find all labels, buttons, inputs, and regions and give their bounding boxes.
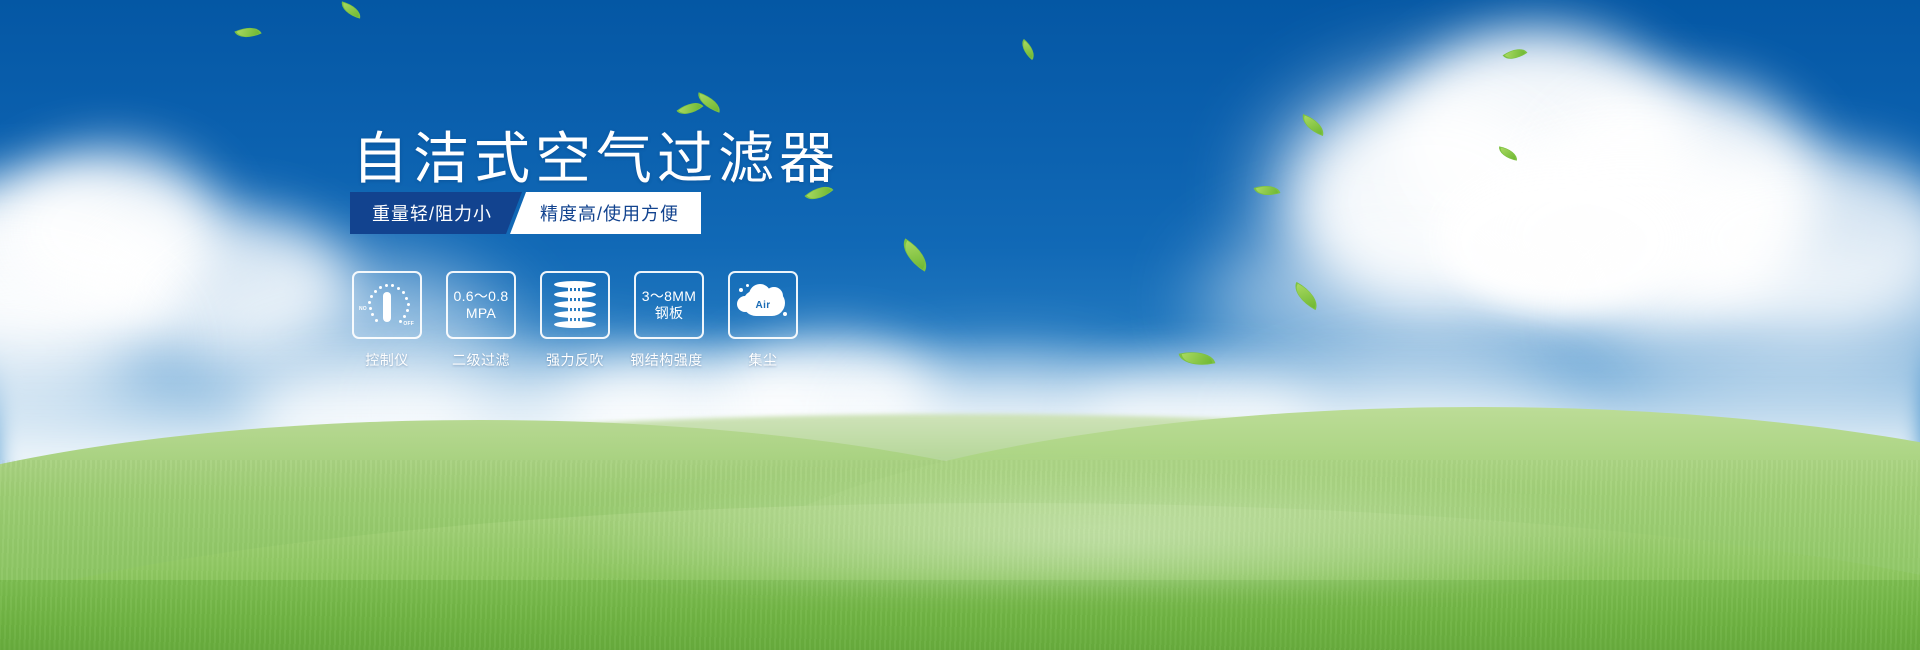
- feature-box: 0.6～0.8 MPA: [446, 271, 516, 339]
- air-cloud-icon: Air: [737, 284, 789, 326]
- feature-box: 3～8MM 钢板: [634, 271, 704, 339]
- feature-list: NO OFF 控制仪 0.6～0.8 MPA 二级过滤: [352, 271, 798, 370]
- hero-banner: 自洁式空气过滤器 重量轻/阻力小 精度高/使用方便: [0, 0, 1920, 650]
- feature-box: NO OFF: [352, 271, 422, 339]
- coil-filter-icon: [554, 281, 596, 329]
- feature-item-blowback[interactable]: 强力反吹: [540, 271, 610, 370]
- feature-caption: 控制仪: [352, 350, 422, 370]
- steel-plate-text-icon: 3～8MM 钢板: [642, 288, 696, 322]
- pressure-text-icon: 0.6～0.8 MPA: [453, 288, 508, 322]
- tagline-badges: 重量轻/阻力小 精度高/使用方便: [350, 192, 701, 234]
- gauge-label-no: NO: [359, 306, 367, 312]
- feature-item-pressure[interactable]: 0.6～0.8 MPA 二级过滤: [446, 271, 516, 370]
- feature-item-dust[interactable]: Air 集尘: [728, 271, 798, 370]
- feature-box: Air: [728, 271, 798, 339]
- steel-material: 钢板: [642, 305, 696, 322]
- feature-caption: 钢结构强度: [629, 350, 704, 370]
- feature-caption: 二级过滤: [446, 350, 516, 370]
- gauge-icon: NO OFF: [362, 282, 412, 328]
- feature-item-steel[interactable]: 3～8MM 钢板 钢结构强度: [634, 271, 704, 370]
- feature-item-controller[interactable]: NO OFF 控制仪: [352, 271, 422, 370]
- feature-box: [540, 271, 610, 339]
- leaf-sprout-icon: [678, 92, 724, 126]
- banner-content: 自洁式空气过滤器 重量轻/阻力小 精度高/使用方便: [0, 0, 1920, 650]
- feature-caption: 集尘: [728, 350, 798, 370]
- badge-weight-resistance[interactable]: 重量轻/阻力小: [350, 192, 522, 234]
- gauge-label-off: OFF: [403, 321, 414, 327]
- badge-precision-ease[interactable]: 精度高/使用方便: [510, 192, 701, 234]
- pressure-value: 0.6～0.8: [453, 288, 508, 305]
- feature-caption: 强力反吹: [540, 350, 610, 370]
- page-title: 自洁式空气过滤器: [352, 114, 840, 195]
- pressure-unit: MPA: [453, 305, 508, 322]
- air-label: Air: [737, 300, 789, 311]
- steel-thickness: 3～8MM: [642, 288, 696, 305]
